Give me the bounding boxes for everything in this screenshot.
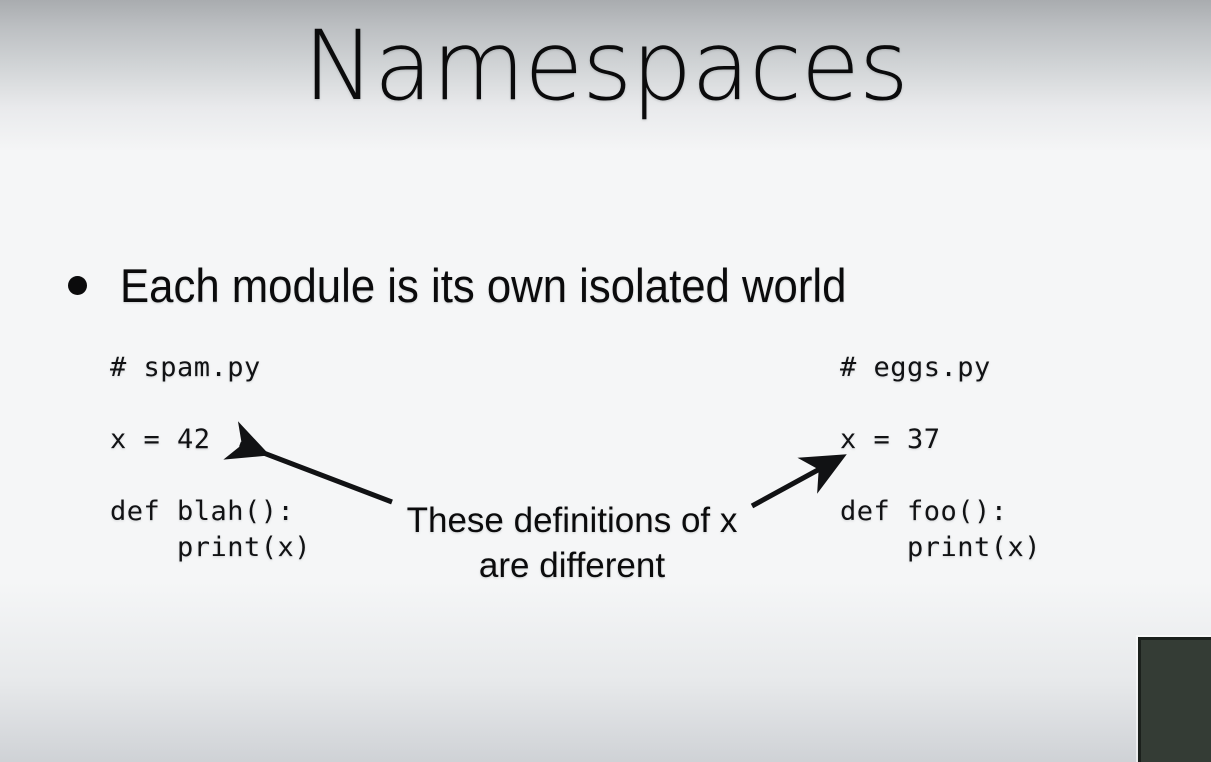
arrow-to-eggs-x — [752, 459, 838, 506]
code-left-def: def blah(): — [110, 496, 294, 527]
background-bottom-gradient — [0, 582, 1211, 762]
code-left-assignment: x = 42 — [110, 424, 211, 455]
annotation-line-1: These definitions of x — [396, 498, 748, 543]
bullet-item-1: Each module is its own isolated world — [68, 262, 901, 309]
code-left-comment: # spam.py — [110, 352, 261, 383]
code-left-gap-2 — [110, 458, 311, 494]
code-right-gap-2 — [840, 458, 1041, 494]
bullet-dot-icon — [68, 276, 87, 295]
code-block-spam: # spam.py x = 42 def blah(): print(x) — [110, 350, 311, 566]
code-right-body: print(x) — [840, 532, 1041, 563]
code-left-gap-1 — [110, 386, 311, 422]
code-right-comment: # eggs.py — [840, 352, 991, 383]
code-block-eggs: # eggs.py x = 37 def foo(): print(x) — [840, 350, 1041, 566]
bullet-item-1-label: Each module is its own isolated world — [120, 262, 846, 309]
code-right-def: def foo(): — [840, 496, 1008, 527]
annotation-text: These definitions of x are different — [396, 498, 748, 588]
code-left-body: print(x) — [110, 532, 311, 563]
code-right-assignment: x = 37 — [840, 424, 941, 455]
code-right-gap-1 — [840, 386, 1041, 422]
slide-title: Namespaces — [0, 16, 1211, 117]
slide-canvas: Namespaces Each module is its own isolat… — [0, 0, 1211, 762]
annotation-line-2: are different — [396, 543, 748, 588]
video-overlay-panel — [1138, 637, 1211, 762]
